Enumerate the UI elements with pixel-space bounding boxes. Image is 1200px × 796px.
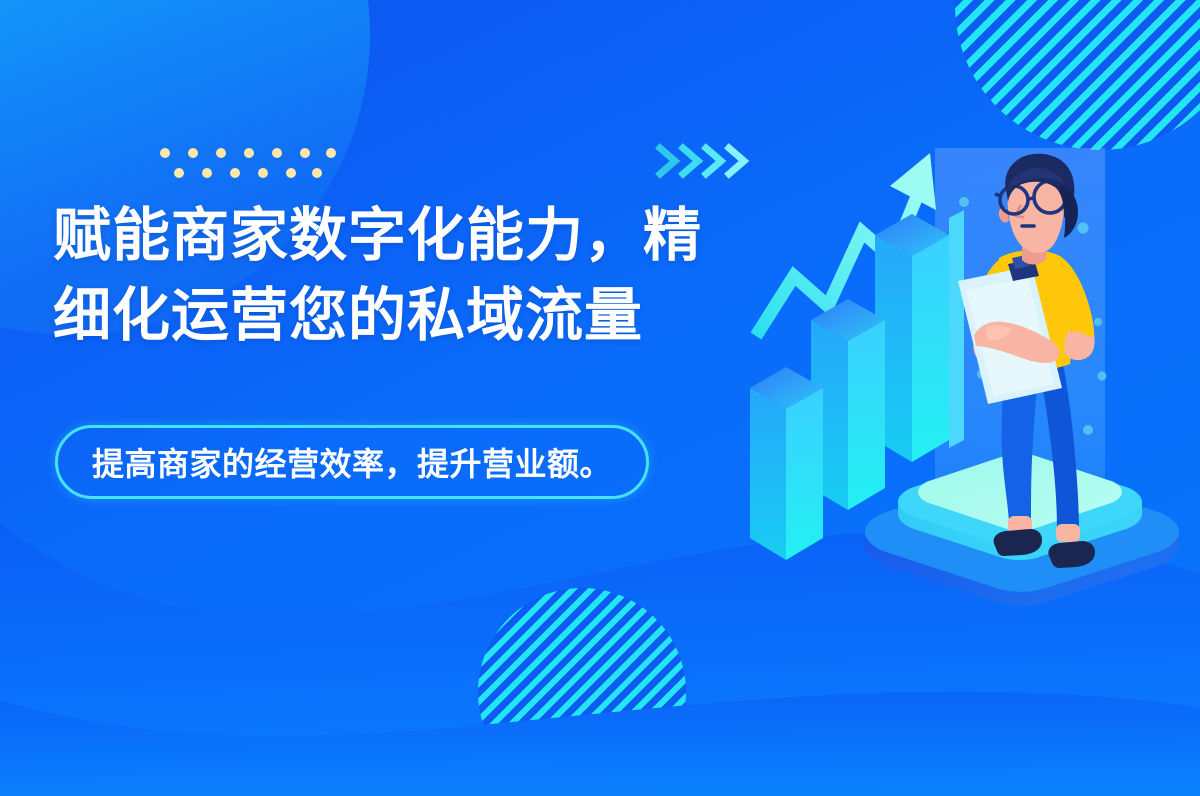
promotional-banner: 赋能商家数字化能力，精 细化运营您的私域流量 提高商家的经营效率，提升营业额。 [0, 0, 1200, 796]
bar-highlight-column [949, 210, 964, 448]
subtitle-text: 提高商家的经营效率，提升营业额。 [92, 439, 612, 485]
dot-grid-decoration [160, 148, 335, 182]
striped-circle-decoration [478, 588, 686, 796]
headline-block: 赋能商家数字化能力，精 细化运营您的私域流量 [53, 196, 773, 356]
bar-1 [750, 367, 823, 560]
page-title: 赋能商家数字化能力，精 细化运营您的私域流量 [53, 196, 773, 356]
chevron-arrows-decoration [655, 140, 760, 182]
striped-circle-decoration [955, 0, 1200, 150]
subtitle-pill: 提高商家的经营效率，提升营业额。 [55, 425, 649, 499]
bar-3 [875, 214, 949, 462]
businessman-with-clipboard-on-platform [750, 140, 1200, 620]
